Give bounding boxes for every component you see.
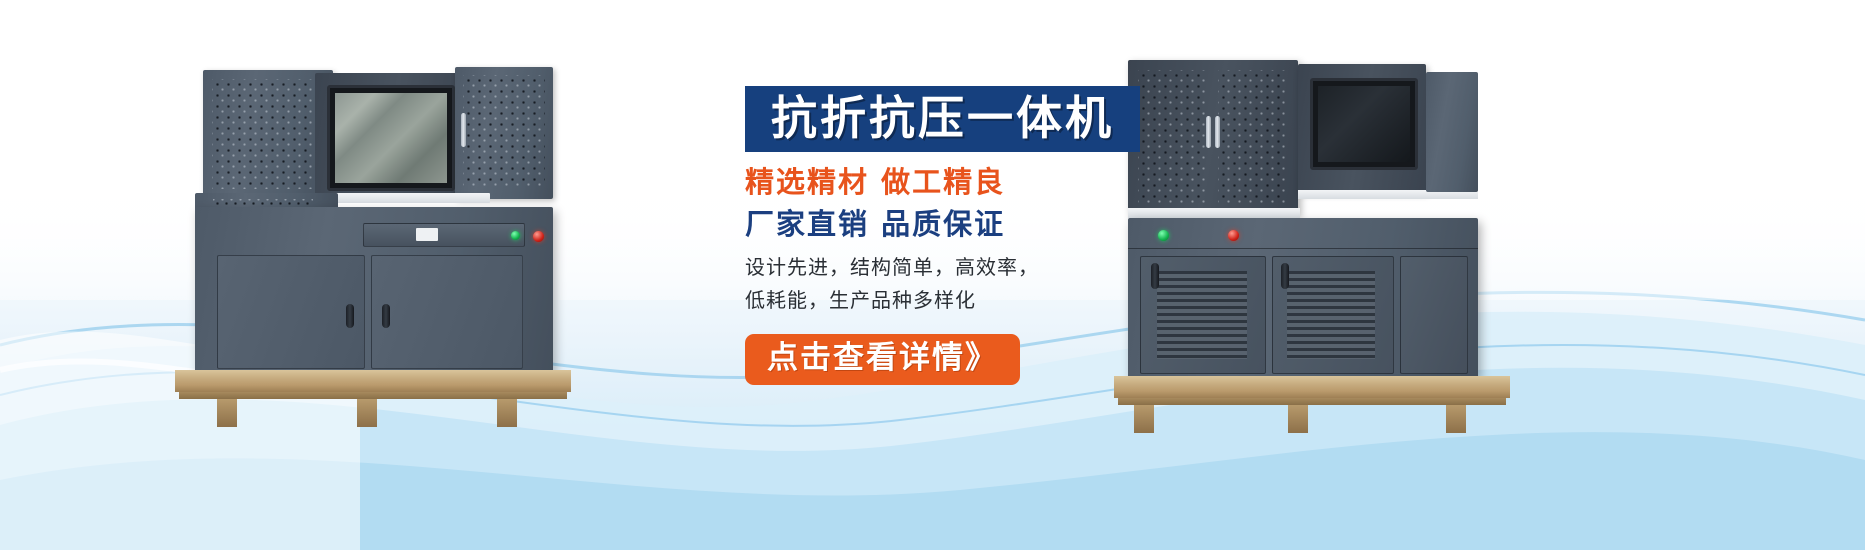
- right-door-panel-3: [1400, 256, 1468, 374]
- left-pallet-leg-3: [497, 399, 517, 427]
- right-pallet-leg-3: [1446, 405, 1466, 433]
- view-details-button[interactable]: 点击查看详情》: [745, 334, 1020, 385]
- left-monitor-housing: [315, 73, 463, 201]
- headline-orange: 精选精材 做工精良: [745, 164, 1305, 200]
- left-shelf-strip: [315, 193, 490, 203]
- left-upper-cabinet-right: [455, 67, 553, 199]
- product-image-left: [165, 45, 585, 440]
- left-door-panel-1: [217, 255, 365, 369]
- right-display-screen: [1310, 78, 1418, 170]
- left-door-panel-2: [371, 255, 523, 369]
- promo-text-block: 抗折抗压一体机 精选精材 做工精良 厂家直销 品质保证 设计先进，结构简单，高效…: [745, 86, 1305, 385]
- left-upper-cabinet: [203, 70, 333, 198]
- left-indicator-lamp-green: [511, 231, 520, 240]
- right-pallet-leg-2: [1288, 405, 1308, 433]
- page-title: 抗折抗压一体机: [771, 91, 1114, 145]
- promo-banner: 抗折抗压一体机 精选精材 做工精良 厂家直销 品质保证 设计先进，结构简单，高效…: [0, 0, 1865, 550]
- left-main-body: [195, 207, 553, 372]
- description-line-2: 低耗能，生产品种多样化: [745, 285, 1305, 316]
- description-line-1: 设计先进，结构简单，高效率，: [745, 252, 1305, 283]
- left-pallet-rail: [179, 392, 567, 399]
- left-pallet-top: [175, 370, 571, 392]
- product-title-banner: 抗折抗压一体机: [745, 86, 1140, 152]
- right-pallet-rail: [1118, 398, 1506, 405]
- left-pallet-leg-1: [217, 399, 237, 427]
- right-side-housing: [1426, 72, 1478, 192]
- view-details-button-label: 点击查看详情》: [767, 340, 998, 376]
- left-indicator-lamp-red: [533, 231, 544, 242]
- left-pallet-leg-2: [357, 399, 377, 427]
- left-control-drawer: [363, 223, 525, 247]
- right-monitor-housing: [1298, 64, 1426, 192]
- right-pallet-leg-1: [1134, 405, 1154, 433]
- headline-blue: 厂家直销 品质保证: [745, 206, 1305, 242]
- left-display-screen: [327, 85, 455, 191]
- left-drawer-label: [416, 228, 438, 241]
